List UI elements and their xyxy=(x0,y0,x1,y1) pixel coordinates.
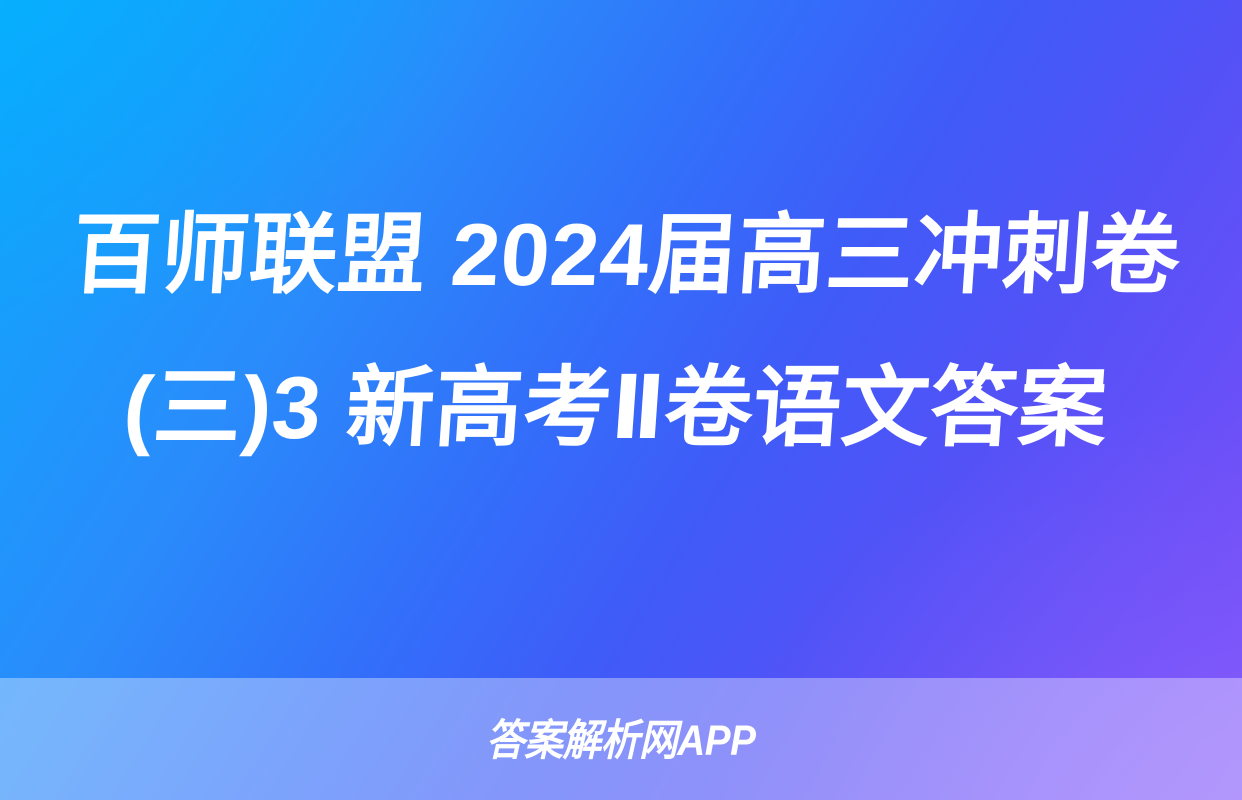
page-title: 百师联盟 2024届高三冲刺卷(三)3 新高考Ⅱ卷语文答案 xyxy=(51,178,1190,484)
watermark-brand: 答案解析网APP xyxy=(0,706,1242,768)
watermark-brand-label: 答案解析网APP xyxy=(486,706,755,768)
answer-banner-card: 百师联盟 2024届高三冲刺卷(三)3 新高考Ⅱ卷语文答案 答案解析网APP xyxy=(0,0,1242,800)
